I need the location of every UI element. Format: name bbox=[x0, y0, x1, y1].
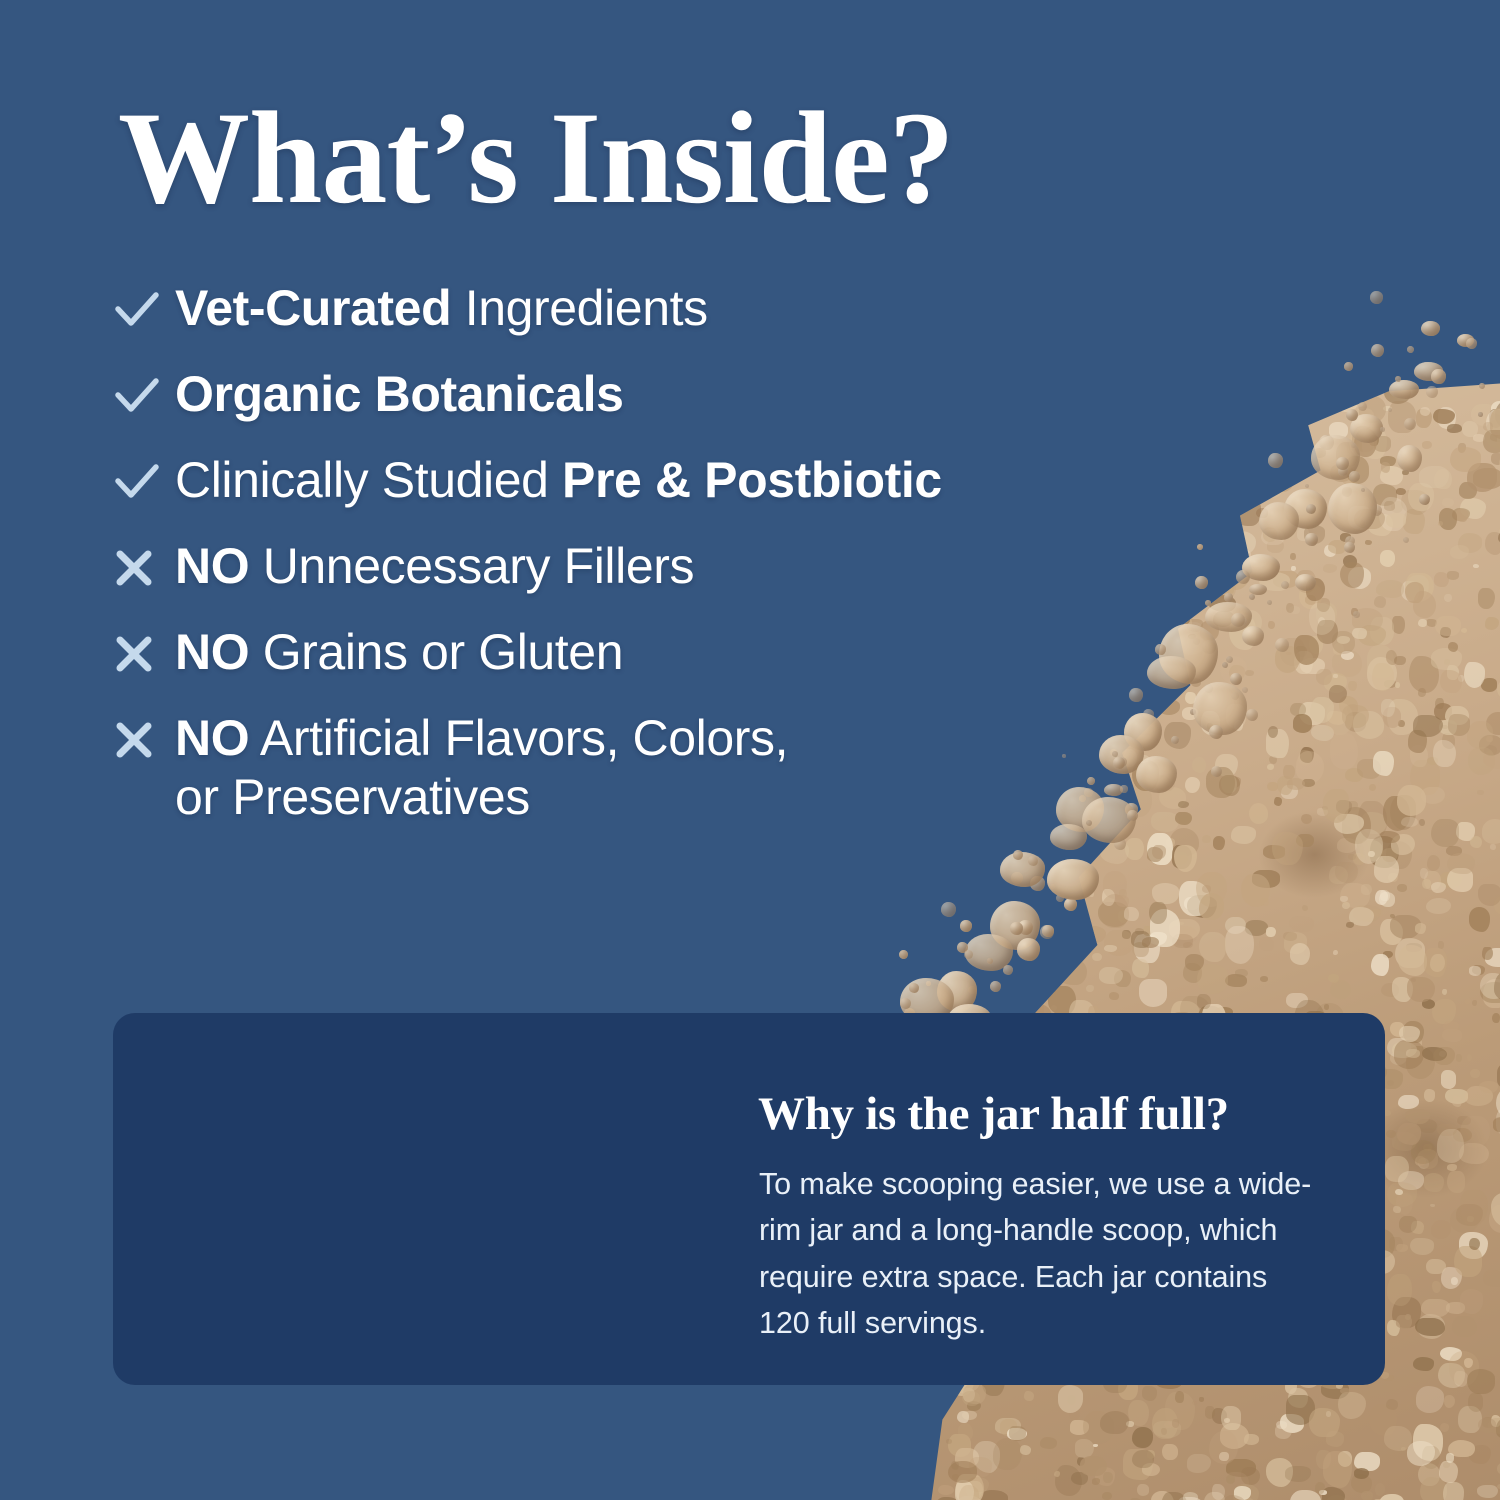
powder-grain bbox=[1200, 621, 1220, 640]
powder-grain bbox=[1290, 1490, 1321, 1500]
powder-grain bbox=[1221, 1406, 1241, 1430]
powder-grain bbox=[963, 1384, 985, 1404]
powder-grain bbox=[1058, 1385, 1083, 1413]
powder-grain bbox=[995, 1418, 1021, 1434]
powder-grain bbox=[1367, 657, 1397, 690]
powder-grain bbox=[936, 837, 943, 842]
powder-grain bbox=[1491, 1415, 1500, 1427]
powder-grain bbox=[1348, 506, 1371, 530]
powder-grain bbox=[1293, 714, 1313, 733]
powder-grain bbox=[1468, 747, 1495, 775]
powder-grain bbox=[1496, 1105, 1500, 1138]
powder-speck bbox=[1195, 576, 1208, 589]
powder-grain bbox=[1444, 594, 1453, 602]
powder-grain bbox=[957, 1411, 969, 1423]
powder-speck bbox=[1344, 362, 1353, 371]
powder-grain bbox=[1326, 1431, 1344, 1446]
powder-grain bbox=[1069, 1410, 1080, 1420]
powder-clump bbox=[1193, 682, 1247, 735]
powder-grain bbox=[1381, 983, 1399, 997]
powder-grain bbox=[1102, 889, 1115, 905]
powder-grain bbox=[1415, 923, 1426, 934]
powder-grain bbox=[1150, 909, 1180, 947]
powder-grain bbox=[1260, 976, 1268, 982]
powder-grain bbox=[1481, 678, 1498, 692]
powder-clump bbox=[1242, 554, 1280, 581]
powder-grain bbox=[1337, 838, 1357, 854]
powder-grain bbox=[1299, 580, 1306, 586]
powder-speck bbox=[1371, 344, 1384, 357]
powder-grain bbox=[1361, 884, 1372, 895]
powder-grain bbox=[1432, 1281, 1442, 1293]
powder-grain bbox=[1104, 945, 1116, 953]
powder-grain bbox=[1059, 941, 1073, 956]
powder-grain bbox=[1458, 675, 1464, 681]
powder-grain bbox=[1315, 1482, 1325, 1493]
powder-speck bbox=[1197, 544, 1203, 550]
feature-label: Organic Botanicals bbox=[175, 364, 624, 424]
powder-grain bbox=[1197, 964, 1228, 994]
powder-speck bbox=[1419, 494, 1430, 505]
powder-grain bbox=[1323, 564, 1337, 573]
powder-grain bbox=[1309, 1408, 1340, 1437]
powder-grain bbox=[1222, 776, 1241, 788]
powder-grain bbox=[1263, 527, 1277, 542]
powder-grain bbox=[1098, 902, 1128, 927]
powder-grain bbox=[1227, 386, 1246, 398]
powder-speck bbox=[1353, 611, 1360, 618]
powder-grain bbox=[1326, 1411, 1331, 1417]
powder-grain bbox=[1314, 448, 1326, 458]
powder-grain bbox=[1225, 926, 1255, 964]
powder-speck bbox=[1404, 418, 1416, 430]
powder-grain bbox=[1443, 1021, 1458, 1031]
powder-grain bbox=[1370, 836, 1399, 868]
powder-grain bbox=[1168, 562, 1191, 581]
powder-grain bbox=[1215, 754, 1239, 777]
powder-speck bbox=[1013, 850, 1023, 860]
powder-speck bbox=[1018, 920, 1033, 935]
powder-grain bbox=[1220, 1423, 1249, 1448]
powder-grain bbox=[1387, 699, 1418, 735]
powder-grain bbox=[1259, 937, 1274, 952]
feature-label: Clinically Studied Pre & Postbiotic bbox=[175, 450, 942, 510]
powder-grain bbox=[1268, 621, 1275, 630]
powder-grain bbox=[1116, 895, 1129, 907]
powder-grain bbox=[1485, 532, 1500, 555]
powder-grain bbox=[1397, 884, 1407, 892]
powder-grain bbox=[1418, 1158, 1429, 1169]
powder-grain bbox=[1226, 1459, 1256, 1478]
powder-grain bbox=[1413, 1357, 1434, 1371]
feature-segment: Unnecessary Fillers bbox=[249, 538, 694, 594]
powder-grain bbox=[937, 1497, 957, 1500]
powder-grain bbox=[1336, 442, 1357, 467]
powder-grain bbox=[1125, 838, 1144, 860]
powder-grain bbox=[1333, 674, 1338, 679]
powder-grain bbox=[1176, 542, 1190, 557]
powder-grain bbox=[1161, 1428, 1167, 1436]
powder-grain bbox=[1340, 896, 1348, 902]
powder-speck bbox=[987, 958, 993, 964]
powder-grain bbox=[1163, 599, 1172, 608]
powder-grain bbox=[1243, 454, 1267, 483]
check-icon bbox=[113, 450, 175, 508]
powder-grain bbox=[1187, 619, 1203, 632]
powder-grain bbox=[1289, 916, 1314, 932]
powder-grain bbox=[1188, 634, 1196, 639]
powder-grain bbox=[1417, 1314, 1446, 1339]
powder-grain bbox=[1213, 836, 1225, 850]
powder-grain bbox=[1249, 803, 1268, 824]
powder-speck bbox=[1370, 291, 1383, 304]
powder-grain bbox=[1392, 616, 1406, 633]
powder-grain bbox=[954, 858, 969, 869]
powder-speck bbox=[1240, 618, 1247, 625]
powder-grain bbox=[1297, 382, 1313, 392]
powder-grain bbox=[1375, 890, 1388, 905]
powder-grain bbox=[1390, 1051, 1407, 1066]
powder-grain bbox=[1452, 1096, 1462, 1108]
powder-grain bbox=[1342, 807, 1372, 845]
powder-grain bbox=[1164, 1422, 1173, 1428]
powder-grain bbox=[1413, 715, 1443, 737]
powder-grain bbox=[1349, 907, 1374, 926]
powder-grain bbox=[1225, 438, 1232, 444]
powder-clump bbox=[1328, 483, 1377, 534]
powder-grain bbox=[1410, 1238, 1435, 1255]
powder-grain bbox=[1316, 669, 1332, 686]
powder-grain bbox=[1399, 1216, 1417, 1233]
feature-row: Vet-Curated Ingredients bbox=[113, 278, 1163, 338]
feature-segment: Grains or Gluten bbox=[249, 624, 623, 680]
powder-grain bbox=[1464, 662, 1485, 688]
powder-grain bbox=[1416, 409, 1432, 427]
powder-grain bbox=[1172, 591, 1189, 602]
powder-grain bbox=[1469, 1238, 1480, 1250]
powder-grain bbox=[1438, 521, 1443, 526]
powder-grain bbox=[1369, 784, 1376, 791]
powder-grain bbox=[1275, 1424, 1292, 1439]
powder-grain bbox=[1160, 451, 1178, 473]
powder-grain bbox=[1431, 882, 1446, 893]
powder-grain bbox=[1387, 1182, 1417, 1207]
powder-grain bbox=[1459, 1232, 1488, 1259]
powder-grain bbox=[1473, 434, 1485, 442]
powder-grain bbox=[1383, 951, 1393, 958]
feature-row: NO Unnecessary Fillers bbox=[113, 536, 1163, 596]
powder-grain bbox=[1419, 466, 1449, 488]
powder-grain bbox=[1280, 1415, 1287, 1422]
powder-grain bbox=[1396, 1315, 1411, 1329]
powder-grain bbox=[1471, 404, 1496, 426]
powder-speck bbox=[1242, 687, 1248, 693]
powder-grain bbox=[1371, 954, 1390, 976]
powder-grain bbox=[1137, 1484, 1149, 1495]
powder-grain bbox=[1485, 948, 1500, 967]
powder-grain bbox=[1165, 661, 1174, 668]
powder-grain bbox=[1245, 920, 1269, 936]
powder-grain bbox=[1051, 1005, 1057, 1010]
powder-grain bbox=[1348, 567, 1371, 589]
powder-grain bbox=[1290, 553, 1295, 560]
powder-grain bbox=[1245, 383, 1253, 391]
powder-grain bbox=[1367, 645, 1395, 678]
powder-grain bbox=[1438, 941, 1445, 949]
powder-grain bbox=[1467, 1369, 1495, 1394]
feature-list: Vet-Curated IngredientsOrganic Botanical… bbox=[113, 278, 1163, 827]
powder-grain bbox=[1176, 542, 1205, 565]
powder-grain bbox=[1391, 834, 1415, 855]
powder-grain bbox=[1383, 796, 1410, 831]
powder-grain bbox=[1447, 853, 1476, 874]
powder-grain bbox=[1427, 757, 1439, 764]
powder-speck bbox=[1361, 488, 1365, 492]
powder-grain bbox=[1165, 1392, 1195, 1430]
powder-grain bbox=[1291, 468, 1296, 473]
powder-grain bbox=[1151, 1491, 1175, 1500]
feature-row: Clinically Studied Pre & Postbiotic bbox=[113, 450, 1163, 510]
powder-grain bbox=[1235, 969, 1248, 977]
powder-speck bbox=[960, 920, 972, 932]
powder-grain bbox=[1251, 556, 1262, 569]
powder-grain bbox=[1301, 814, 1311, 824]
powder-grain bbox=[1328, 540, 1346, 554]
powder-grain bbox=[1348, 854, 1356, 860]
powder-grain bbox=[1478, 884, 1500, 906]
powder-grain bbox=[1485, 617, 1499, 630]
powder-grain bbox=[1439, 872, 1462, 889]
powder-grain bbox=[1233, 549, 1251, 563]
feature-label: NO Unnecessary Fillers bbox=[175, 536, 694, 596]
powder-grain bbox=[1302, 442, 1308, 447]
powder-grain bbox=[1389, 1237, 1403, 1252]
powder-clump bbox=[1259, 502, 1299, 540]
powder-grain bbox=[1114, 970, 1131, 987]
powder-grain bbox=[965, 906, 980, 922]
powder-grain bbox=[1170, 485, 1186, 498]
powder-grain bbox=[1462, 421, 1479, 437]
powder-grain bbox=[993, 971, 1003, 978]
powder-speck bbox=[1388, 408, 1392, 412]
powder-grain bbox=[1374, 856, 1400, 883]
powder-grain bbox=[1413, 591, 1436, 618]
powder-grain bbox=[1491, 453, 1500, 465]
powder-grain bbox=[1226, 1475, 1236, 1484]
powder-grain bbox=[1437, 1129, 1463, 1163]
feature-row: NO Grains or Gluten bbox=[113, 622, 1163, 682]
powder-grain bbox=[1309, 636, 1323, 654]
powder-grain bbox=[1395, 1189, 1403, 1195]
powder-grain bbox=[1394, 1040, 1424, 1069]
powder-grain bbox=[1419, 819, 1425, 826]
powder-grain bbox=[1258, 469, 1284, 498]
powder-grain bbox=[1324, 673, 1347, 693]
powder-grain bbox=[1394, 656, 1406, 666]
powder-grain bbox=[1398, 1171, 1424, 1190]
powder-grain bbox=[1362, 428, 1388, 459]
powder-grain bbox=[1444, 659, 1451, 665]
powder-grain bbox=[1222, 553, 1241, 567]
powder-grain bbox=[1080, 827, 1104, 842]
powder-grain bbox=[1232, 412, 1238, 419]
powder-grain bbox=[1450, 1208, 1479, 1233]
powder-speck bbox=[957, 942, 968, 953]
powder-grain bbox=[1337, 815, 1346, 821]
powder-grain bbox=[1379, 892, 1395, 907]
powder-grain bbox=[1170, 828, 1199, 856]
powder-grain bbox=[1352, 400, 1363, 407]
powder-grain bbox=[1457, 1116, 1470, 1125]
x-icon bbox=[113, 622, 175, 680]
powder-clump bbox=[937, 971, 977, 1012]
powder-grain bbox=[1337, 397, 1357, 412]
powder-grain bbox=[1427, 855, 1440, 871]
powder-grain bbox=[1267, 764, 1274, 770]
powder-speck bbox=[1305, 533, 1318, 546]
powder-grain bbox=[1432, 999, 1456, 1024]
powder-grain bbox=[1241, 1467, 1260, 1484]
powder-grain bbox=[962, 838, 979, 853]
powder-grain bbox=[1357, 759, 1381, 779]
powder-grain bbox=[1450, 447, 1481, 472]
powder-grain bbox=[1165, 456, 1180, 471]
powder-grain bbox=[1185, 692, 1195, 705]
powder-grain bbox=[1289, 606, 1300, 613]
powder-grain bbox=[1224, 442, 1235, 452]
powder-grain bbox=[1223, 559, 1249, 590]
powder-grain bbox=[1472, 1000, 1478, 1006]
powder-grain bbox=[1134, 934, 1160, 963]
powder-grain bbox=[1388, 873, 1398, 882]
powder-clump bbox=[1389, 380, 1419, 399]
powder-grain bbox=[1486, 712, 1500, 735]
powder-grain bbox=[1174, 392, 1198, 410]
powder-speck bbox=[1190, 709, 1196, 715]
powder-grain bbox=[1351, 1474, 1372, 1493]
powder-grain bbox=[1231, 826, 1255, 844]
powder-grain bbox=[1409, 656, 1439, 693]
powder-grain bbox=[1208, 525, 1216, 531]
powder-grain bbox=[1058, 960, 1088, 985]
powder-grain bbox=[1386, 650, 1398, 664]
powder-grain bbox=[1349, 428, 1373, 457]
powder-grain bbox=[1241, 555, 1251, 562]
powder-grain bbox=[1166, 493, 1175, 504]
powder-grain bbox=[1166, 434, 1172, 441]
powder-speck bbox=[1010, 922, 1023, 935]
powder-grain bbox=[1179, 881, 1210, 916]
powder-grain bbox=[970, 863, 978, 868]
powder-grain bbox=[1296, 570, 1316, 593]
powder-grain bbox=[1229, 665, 1246, 682]
powder-clump bbox=[1350, 414, 1383, 443]
powder-grain bbox=[1199, 932, 1226, 963]
powder-grain bbox=[1467, 463, 1498, 492]
powder-speck bbox=[1050, 884, 1055, 889]
powder-grain bbox=[1417, 1149, 1439, 1169]
card-heading: Why is the jar half full? bbox=[758, 1091, 1229, 1138]
powder-grain bbox=[1142, 1386, 1157, 1401]
powder-grain bbox=[1415, 1156, 1426, 1166]
powder-grain bbox=[1401, 581, 1418, 601]
powder-grain bbox=[1322, 1487, 1345, 1500]
powder-speck bbox=[1205, 600, 1211, 606]
powder-grain bbox=[1392, 1297, 1421, 1328]
info-card: Why is the jar half full? To make scoopi… bbox=[113, 1013, 1385, 1385]
powder-grain bbox=[1209, 595, 1236, 612]
powder-grain bbox=[1381, 699, 1396, 717]
powder-grain bbox=[930, 934, 938, 941]
powder-grain bbox=[1019, 824, 1040, 847]
powder-grain bbox=[1372, 663, 1394, 691]
powder-grain bbox=[1313, 390, 1323, 398]
powder-grain bbox=[1219, 584, 1235, 595]
powder-grain bbox=[1387, 1038, 1411, 1058]
page-title: What’s Inside? bbox=[118, 92, 954, 224]
powder-grain bbox=[1175, 1391, 1184, 1403]
powder-grain bbox=[1424, 871, 1441, 890]
powder-clump bbox=[1295, 574, 1316, 591]
powder-grain bbox=[1068, 964, 1073, 969]
powder-grain bbox=[1323, 789, 1349, 822]
powder-speck bbox=[1011, 872, 1023, 884]
powder-grain bbox=[1340, 533, 1350, 541]
powder-grain bbox=[1025, 980, 1044, 993]
powder-grain bbox=[1332, 631, 1355, 654]
powder-grain bbox=[1219, 1452, 1229, 1461]
powder-speck bbox=[1042, 925, 1054, 937]
powder-grain bbox=[1361, 1491, 1374, 1500]
powder-grain bbox=[1222, 1495, 1245, 1500]
powder-grain bbox=[1324, 393, 1337, 401]
powder-grain bbox=[1272, 832, 1303, 865]
powder-grain bbox=[1379, 497, 1407, 531]
powder-grain bbox=[1234, 720, 1243, 731]
powder-grain bbox=[1296, 751, 1324, 784]
powder-grain bbox=[976, 907, 993, 928]
powder-grain bbox=[1406, 575, 1429, 601]
powder-grain bbox=[1401, 1447, 1406, 1452]
powder-grain bbox=[1423, 1144, 1431, 1151]
powder-grain bbox=[1149, 902, 1167, 923]
powder-grain bbox=[1479, 735, 1500, 754]
powder-grain bbox=[1061, 847, 1089, 876]
powder-grain bbox=[953, 1005, 958, 1012]
powder-speck bbox=[899, 950, 908, 959]
powder-grain bbox=[1169, 919, 1200, 940]
powder-speck bbox=[1040, 925, 1054, 939]
powder-grain bbox=[1274, 391, 1300, 409]
powder-grain bbox=[952, 1474, 959, 1480]
powder-grain bbox=[1217, 579, 1237, 599]
powder-grain bbox=[959, 1485, 978, 1500]
powder-grain bbox=[1323, 1451, 1352, 1488]
powder-grain bbox=[1426, 619, 1437, 627]
powder-grain bbox=[1310, 697, 1335, 723]
powder-grain bbox=[1201, 435, 1208, 442]
powder-grain bbox=[1341, 651, 1355, 660]
powder-grain bbox=[1229, 615, 1257, 650]
feature-segment: NO bbox=[175, 710, 249, 766]
powder-grain bbox=[1398, 720, 1405, 728]
powder-speck bbox=[1338, 466, 1348, 476]
powder-grain bbox=[1417, 1119, 1438, 1133]
powder-grain bbox=[973, 1441, 1000, 1474]
powder-speck bbox=[1358, 402, 1367, 411]
powder-grain bbox=[1220, 492, 1237, 512]
powder-grain bbox=[1407, 977, 1435, 1002]
